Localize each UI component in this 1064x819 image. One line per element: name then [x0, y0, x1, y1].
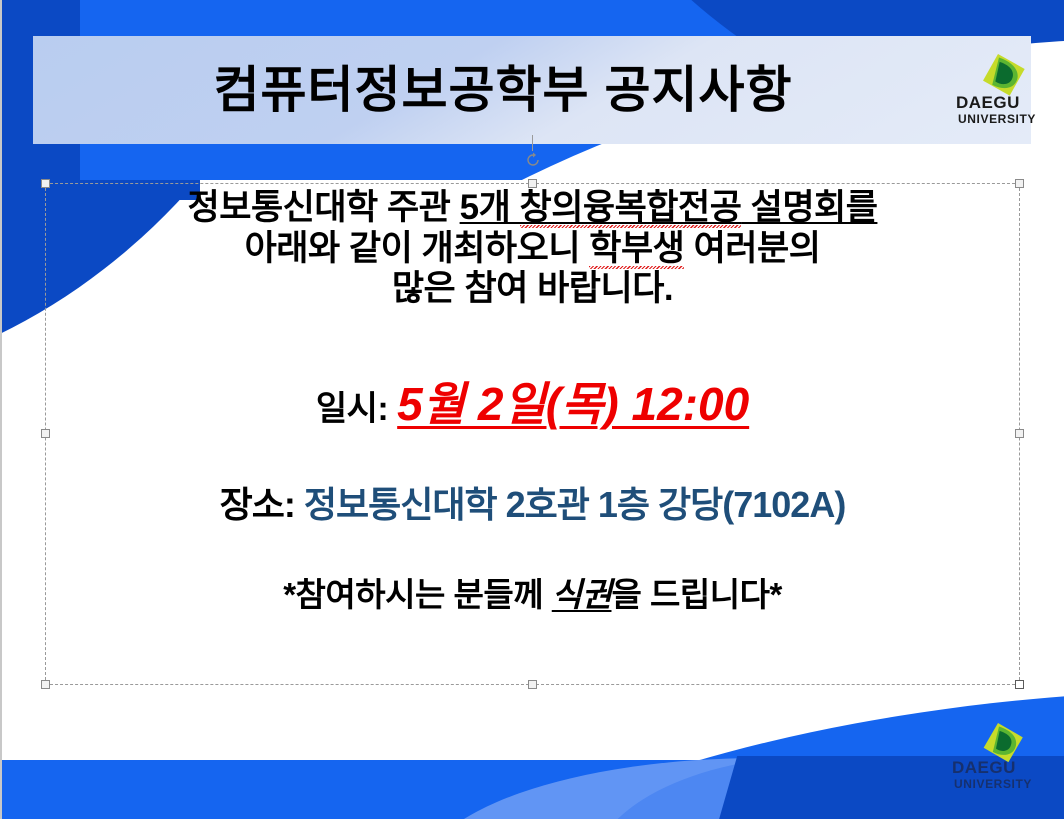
intro-line1-pre: 정보통신대학 주관 [188, 188, 460, 227]
datetime-value: 5월 2일(목) 12:00 [397, 378, 749, 430]
resize-handle-middle-left[interactable] [41, 429, 50, 438]
logo-name-primary: DAEGU [956, 93, 1020, 112]
intro-line2-post: 여러분의 [684, 229, 820, 268]
logo-name-primary: DAEGU [952, 758, 1016, 777]
intro-line-1: 정보통신대학 주관 5개 창의융복합전공 설명회를 [50, 188, 1015, 229]
rotate-handle[interactable] [524, 151, 542, 169]
daegu-university-logo-bottom: DAEGU UNIVERSITY [950, 721, 1042, 801]
datetime-label: 일시: [316, 390, 397, 428]
place-value: 정보통신대학 2호관 1층 강당(7102A) [304, 484, 845, 525]
intro-line2-spellcheck-term: 학부생 [589, 229, 684, 268]
intro-line-3: 많은 참여 바랍니다. [50, 269, 1015, 310]
note-post: 을 드립니다* [611, 576, 781, 613]
presentation-slide: 컴퓨터정보공학부 공지사항 DAEGU UNIVERSITY DAEGU UNI… [0, 0, 1064, 819]
spacer-after-intro [50, 310, 1015, 368]
resize-handle-top-right[interactable] [1015, 179, 1024, 188]
note-pre: *참여하시는 분들께 [283, 576, 552, 613]
paragraph-intro: 정보통신대학 주관 5개 창의융복합전공 설명회를 아래와 같이 개최하오니 학… [50, 188, 1015, 310]
logo-name-secondary: UNIVERSITY [954, 777, 1032, 791]
resize-handle-top-left[interactable] [41, 179, 50, 188]
intro-line-2: 아래와 같이 개최하오니 학부생 여러분의 [50, 229, 1015, 270]
resize-handle-top-middle[interactable] [528, 179, 537, 188]
intro-line1-spellcheck-term: 창의융복합전공 [520, 188, 742, 227]
spacer-after-place [50, 528, 1015, 568]
announcement-body[interactable]: 정보통신대학 주관 5개 창의융복합전공 설명회를 아래와 같이 개최하오니 학… [50, 188, 1015, 616]
intro-line1-underlined-a: 5개 [460, 188, 520, 227]
title-banner: 컴퓨터정보공학부 공지사항 [33, 36, 1031, 144]
resize-handle-bottom-right[interactable] [1015, 680, 1024, 689]
datetime-line: 일시: 5월 2일(목) 12:00 [50, 368, 1015, 434]
resize-handle-bottom-left[interactable] [41, 680, 50, 689]
note-line: *참여하시는 분들께 식권을 드립니다* [50, 568, 1015, 616]
place-label: 장소: [220, 484, 304, 525]
place-line: 장소: 정보통신대학 2호관 1층 강당(7102A) [50, 476, 1015, 528]
bottom-mid-blue-curve [590, 756, 820, 819]
page-left-edge [0, 0, 2, 819]
logo-name-secondary: UNIVERSITY [958, 112, 1036, 126]
resize-handle-bottom-middle[interactable] [528, 680, 537, 689]
bottom-light-blue-curve [420, 758, 760, 819]
rotate-icon [524, 151, 542, 169]
resize-handle-middle-right[interactable] [1015, 429, 1024, 438]
intro-line1-underlined-b: 설명회를 [741, 188, 877, 227]
intro-line2-pre: 아래와 같이 개최하오니 [245, 229, 590, 268]
bottom-blue-bar [0, 760, 1064, 819]
rotate-handle-stem [532, 135, 533, 151]
bottom-blue-arc [250, 690, 1064, 819]
daegu-university-logo-top: DAEGU UNIVERSITY [952, 50, 1044, 130]
page-title: 컴퓨터정보공학부 공지사항 [33, 65, 1031, 115]
spacer-after-datetime [50, 434, 1015, 476]
note-emphasis: 식권 [552, 576, 612, 613]
